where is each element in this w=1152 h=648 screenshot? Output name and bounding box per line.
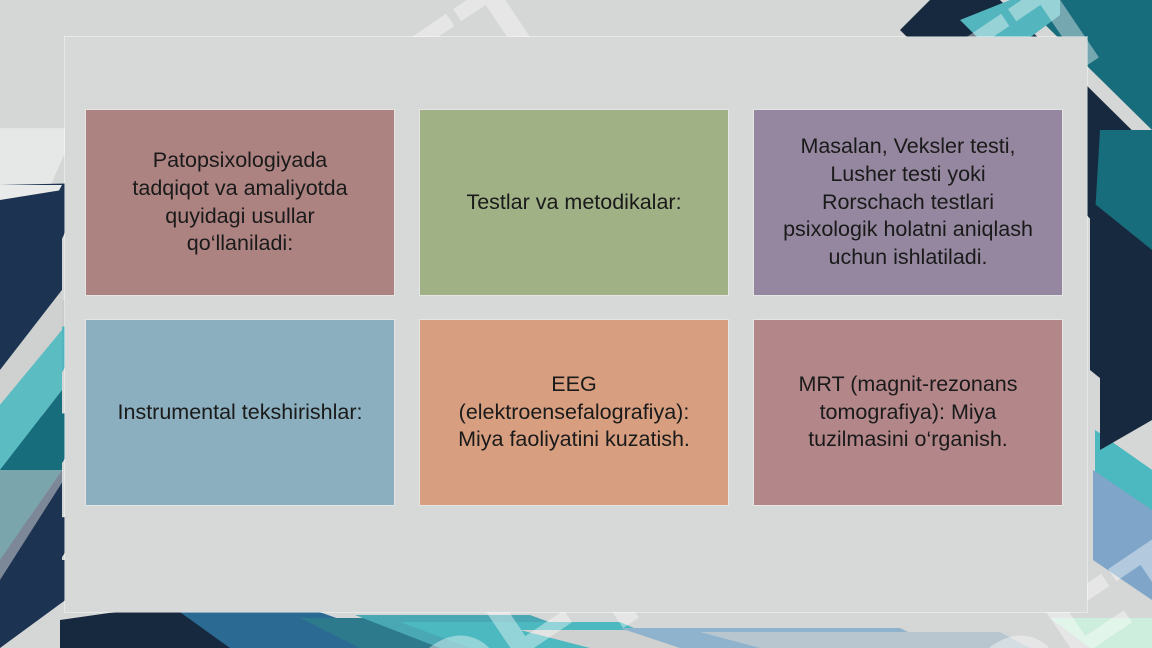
content-box-mri-description[interactable]: MRT (magnit-rezonans tomografiya): Miya … [754, 320, 1062, 505]
content-box-text: Testlar va metodikalar: [466, 189, 681, 217]
content-box-instrumental-exams[interactable]: Instrumental tekshirishlar: [86, 320, 394, 505]
content-box-methods-intro[interactable]: Patopsixologiyada tadqiqot va amaliyotda… [86, 110, 394, 295]
content-box-text: Masalan, Veksler testi, Lusher testi yok… [783, 133, 1033, 273]
content-box-grid: Patopsixologiyada tadqiqot va amaliyotda… [86, 110, 1068, 505]
content-box-text: MRT (magnit-rezonans tomografiya): Miya … [798, 371, 1017, 455]
content-box-text: EEG (elektroensefalografiya): Miya faoli… [458, 371, 690, 455]
content-box-text: Instrumental tekshirishlar: [118, 399, 363, 427]
content-box-tests-examples[interactable]: Masalan, Veksler testi, Lusher testi yok… [754, 110, 1062, 295]
content-box-tests-and-methods[interactable]: Testlar va metodikalar: [420, 110, 728, 295]
content-box-text: Patopsixologiyada tadqiqot va amaliyotda… [132, 147, 347, 259]
content-box-eeg-description[interactable]: EEG (elektroensefalografiya): Miya faoli… [420, 320, 728, 505]
presentation-slide: SOFT SOFT SOFT SOFT Patopsixologiyada ta… [0, 0, 1152, 648]
